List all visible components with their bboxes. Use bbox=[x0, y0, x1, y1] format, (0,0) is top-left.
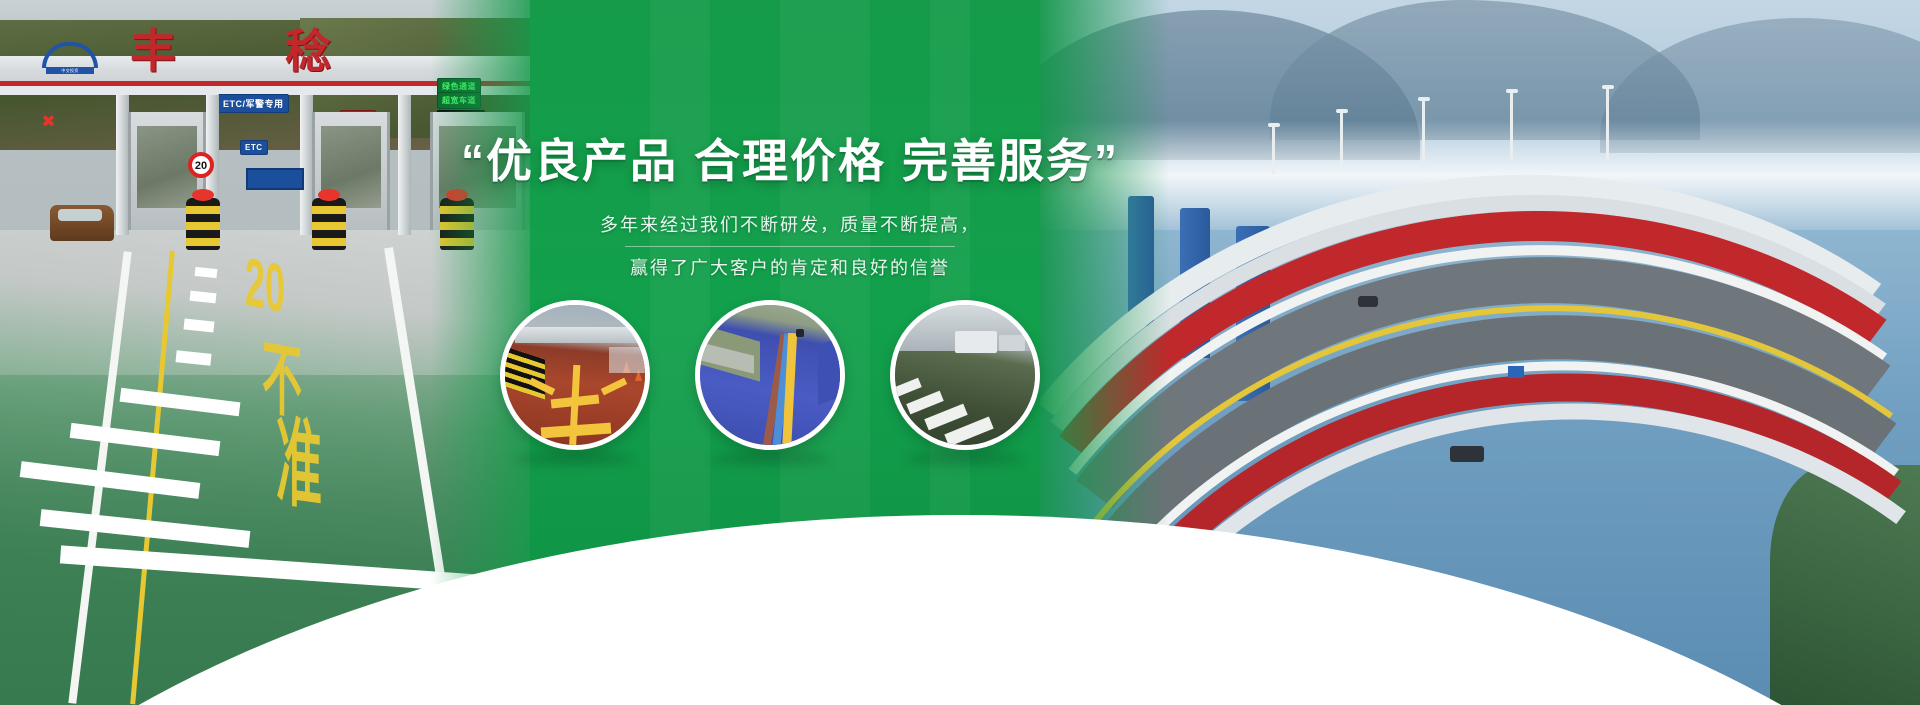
marking bbox=[601, 378, 627, 396]
safety-barrel bbox=[312, 198, 346, 250]
thumb-image bbox=[505, 305, 645, 445]
thumbnail-red-toll-plaza-road[interactable] bbox=[500, 300, 650, 450]
subtitle-line-1: 多年来经过我们不断研发，质量不断提高， bbox=[440, 208, 1140, 242]
toll-gantry bbox=[515, 327, 645, 343]
hero-banner: 20 不 准 中交投资 丰 稔 ✖ ✖ ETC/军警专用 绿色通道 超宽车道 车… bbox=[0, 0, 1920, 705]
far-lane bbox=[818, 333, 845, 405]
brand-character-1: 丰 bbox=[130, 28, 176, 74]
headline-part-2: 合理价格 bbox=[694, 135, 886, 187]
street-lamp bbox=[1340, 112, 1343, 168]
roadside-sign bbox=[1508, 366, 1524, 378]
crosswalk-stripe bbox=[906, 391, 943, 415]
street-lamp bbox=[1422, 100, 1425, 162]
distant-vehicle bbox=[796, 329, 804, 337]
headline-part-1: 优良产品 bbox=[486, 135, 678, 187]
headline-part-3: 完善服务 bbox=[902, 135, 1094, 187]
thumbnail-pedestrian-crosswalk-marking[interactable] bbox=[890, 300, 1040, 450]
thumb-image bbox=[895, 305, 1035, 445]
van bbox=[999, 335, 1025, 351]
logo-text: 中交投资 bbox=[46, 67, 94, 74]
street-lamp bbox=[1272, 126, 1275, 174]
speed-limit-sign: 20 bbox=[188, 152, 214, 178]
marking bbox=[569, 365, 581, 450]
vehicle-on-bridge bbox=[1450, 446, 1484, 462]
thumbnail-row bbox=[500, 300, 1060, 480]
barrier bbox=[505, 347, 545, 400]
thumb-shadow bbox=[515, 452, 635, 466]
page-title: “优良产品合理价格完善服务” bbox=[440, 132, 1140, 190]
crosswalk-stripe bbox=[890, 378, 922, 399]
thumb-shadow bbox=[905, 452, 1025, 466]
thumb-image bbox=[700, 305, 840, 445]
canopy-column bbox=[398, 95, 411, 235]
safety-barrel bbox=[186, 198, 220, 250]
brand-character-2: 稔 bbox=[285, 28, 331, 74]
truck bbox=[955, 331, 997, 353]
street-lamp bbox=[1510, 92, 1513, 160]
subtitle-block: 多年来经过我们不断研发，质量不断提高， 赢得了广大客户的肯定和良好的信誉 bbox=[440, 208, 1140, 285]
street-lamp bbox=[1606, 88, 1609, 160]
banner-text-block: “优良产品合理价格完善服务” 多年来经过我们不断研发，质量不断提高， 赢得了广大… bbox=[440, 132, 1140, 285]
company-logo: 中交投资 bbox=[42, 40, 98, 74]
vehicle bbox=[50, 205, 114, 241]
thumbnail-blue-colored-pavement[interactable] bbox=[695, 300, 845, 450]
sign-etc: ETC bbox=[240, 140, 268, 155]
direction-sign bbox=[246, 168, 304, 190]
headline-open-quote: “ bbox=[461, 135, 486, 187]
lane-closed-x-icon: ✖ bbox=[40, 113, 57, 130]
thumb-shadow bbox=[710, 452, 830, 466]
headline-close-quote: ” bbox=[1094, 135, 1119, 187]
vehicle-on-bridge bbox=[1358, 296, 1378, 307]
subtitle-line-2: 赢得了广大客户的肯定和良好的信誉 bbox=[440, 251, 1140, 285]
logo-arc-icon bbox=[42, 42, 98, 68]
subtitle-divider bbox=[625, 246, 955, 247]
roadside bbox=[609, 347, 649, 373]
road-text-3: 准 bbox=[276, 385, 322, 530]
sign-etc-military: ETC/军警专用 bbox=[218, 94, 289, 113]
